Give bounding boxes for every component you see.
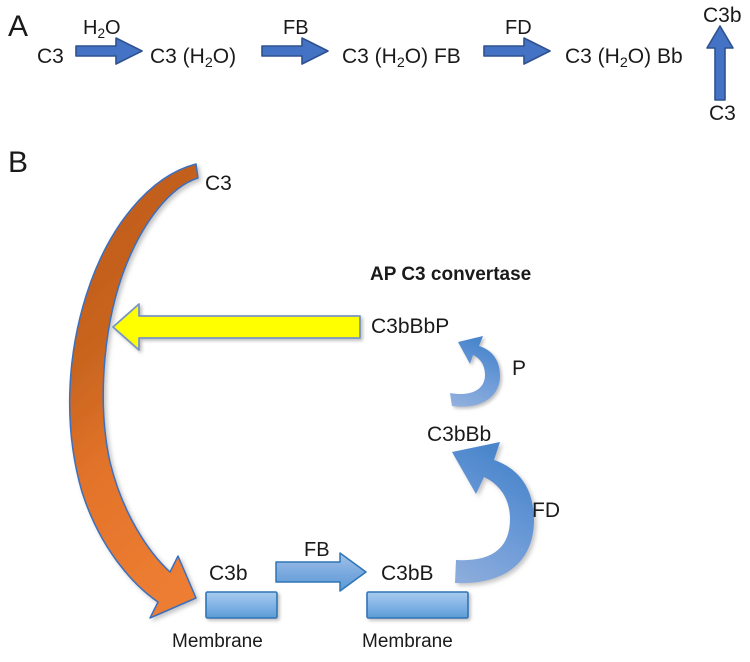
panel-a-node-c3-h2o-bb: C3 (H2O) Bb xyxy=(565,46,683,70)
c3bbb-label: C3bBb xyxy=(427,424,491,445)
panel-a-reagent-fb: FB xyxy=(283,18,309,38)
panel-a-node-c3-input: C3 xyxy=(709,103,736,124)
panel-a-arrow-h2o xyxy=(76,38,142,64)
panel-a-node-c3b: C3b xyxy=(703,5,742,26)
panel-b-yellow-arrow xyxy=(113,304,360,350)
panel-a-reagent-h2o: H2O xyxy=(83,18,121,40)
fb-label: FB xyxy=(304,540,330,560)
complement-alternative-pathway-figure: A C3 C3 (H2O) C3 (H2O) FB C3 (H2O) Bb C3… xyxy=(0,0,750,662)
ap-c3-convertase-title: AP C3 convertase xyxy=(370,265,531,284)
membrane-bar-left xyxy=(206,592,277,618)
c3b-label: C3b xyxy=(209,563,248,584)
panel-a-arrow-c3-to-c3b xyxy=(707,26,733,100)
panel-b-curved-p-arrow xyxy=(450,336,500,407)
fd-label: FD xyxy=(532,500,560,521)
membrane-bar-right xyxy=(367,592,468,618)
panel-a-reagent-fd: FD xyxy=(505,18,532,38)
panel-a-node-c3-h2o-fb: C3 (H2O) FB xyxy=(342,46,461,70)
membrane-label-right: Membrane xyxy=(362,632,453,651)
panel-b-letter: B xyxy=(8,148,28,178)
panel-b-curved-fd-arrow xyxy=(452,442,534,583)
panel-a-node-c3: C3 xyxy=(37,46,64,67)
panel-a-arrow-fb xyxy=(262,38,328,64)
panel-a-arrow-fd xyxy=(484,38,550,64)
panel-b-orange-c3-arrow xyxy=(70,164,198,618)
properdin-label: P xyxy=(512,358,526,379)
c3-substrate-label: C3 xyxy=(205,173,232,194)
membrane-label-left: Membrane xyxy=(172,632,263,651)
c3bbbp-label: C3bBbP xyxy=(371,316,449,337)
c3bb-label: C3bB xyxy=(381,563,434,584)
panel-a-letter: A xyxy=(8,12,28,42)
panel-a-node-c3-h2o: C3 (H2O) xyxy=(150,46,236,70)
